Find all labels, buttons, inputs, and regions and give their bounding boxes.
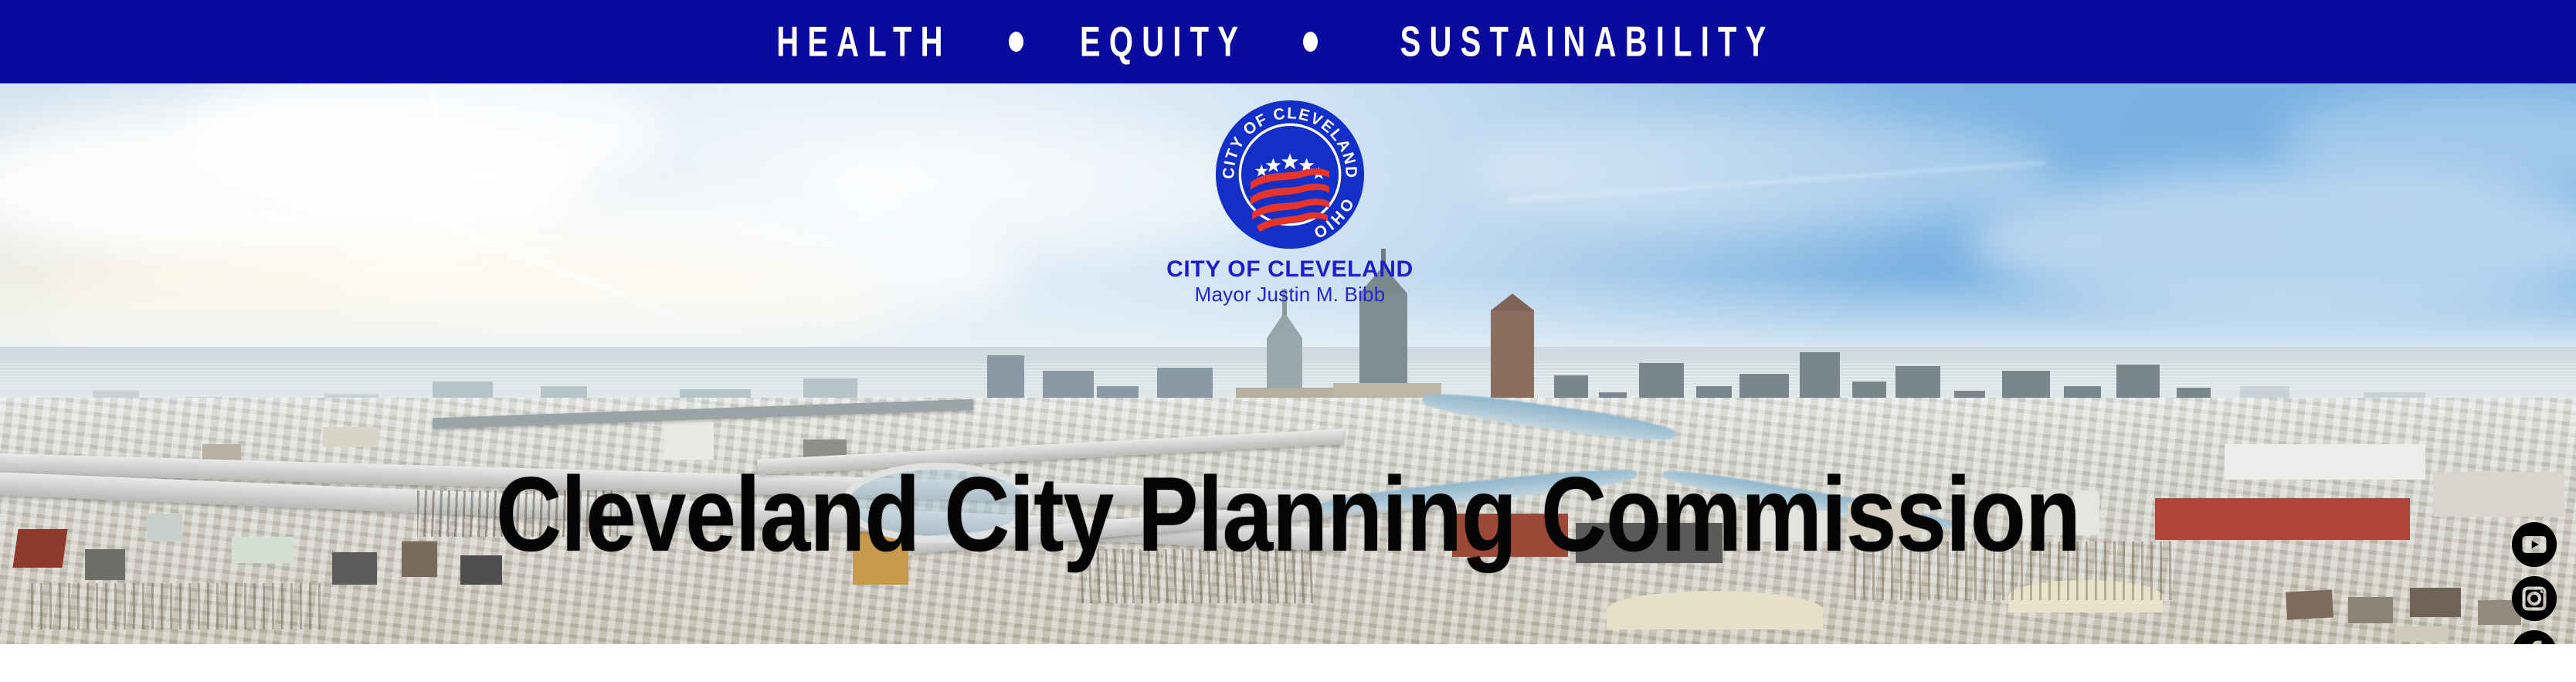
tagline-word-equity: EQUITY — [1080, 21, 1247, 63]
house-roof — [2410, 588, 2461, 617]
building-block — [402, 541, 437, 577]
building-block — [147, 514, 182, 541]
city-brand-lockup: CITY OF CLEVELAND OHIO — [1135, 99, 1444, 306]
city-seal: CITY OF CLEVELAND OHIO — [1214, 99, 1366, 250]
brand-mayor-label: Mayor Justin M. Bibb — [1135, 283, 1444, 306]
cuyahoga-river — [1313, 464, 1638, 518]
social-links — [2510, 521, 2559, 644]
tree-cluster — [1081, 549, 1313, 603]
tree-cluster — [1854, 541, 2178, 600]
tagline-banner-inner: HEALTH EQUITY SUSTAINABILITY — [755, 22, 1821, 61]
youtube-icon[interactable] — [2510, 521, 2558, 568]
building-block — [323, 427, 378, 447]
industrial-block — [2225, 444, 2425, 480]
tagline-separator-dot-2 — [1303, 32, 1318, 52]
industrial-block — [1743, 511, 1828, 541]
house-roof — [2286, 589, 2333, 619]
building-block — [332, 552, 377, 585]
building-block — [232, 537, 294, 563]
cloud-shape — [1468, 114, 2055, 230]
brand-city-label: CITY OF CLEVELAND — [1135, 257, 1444, 282]
industrial-block — [1452, 514, 1568, 557]
building-block — [85, 549, 125, 580]
house-roof — [2348, 597, 2393, 623]
tagline-word-health: HEALTH — [776, 21, 951, 63]
highway-loop — [842, 463, 1033, 543]
tree-cluster — [417, 490, 618, 537]
industrial-silo — [2041, 489, 2067, 535]
industrial-block — [2155, 498, 2410, 540]
tagline-banner: HEALTH EQUITY SUSTAINABILITY — [0, 0, 2576, 83]
lake-shimmer — [0, 364, 2576, 392]
city-seal-svg: CITY OF CLEVELAND OHIO — [1214, 99, 1366, 250]
page-root: HEALTH EQUITY SUSTAINABILITY — [0, 0, 2576, 682]
instagram-icon[interactable] — [2510, 575, 2558, 623]
house-roof — [2394, 626, 2449, 642]
industrial-block — [2433, 472, 2564, 517]
industrial-block — [1848, 503, 1922, 537]
tree-cluster — [31, 583, 324, 629]
tagline-word-sustainability: SUSTAINABILITY — [1400, 21, 1775, 63]
industrial-silo — [2073, 490, 2099, 535]
footer-white-strip — [0, 644, 2576, 682]
building-block — [664, 418, 714, 460]
building-block — [460, 555, 502, 585]
urban-blocks — [0, 398, 2576, 644]
industrial-silo — [2008, 487, 2035, 535]
tagline-separator-dot-1 — [1009, 32, 1023, 52]
hero-photo-region: CITY OF CLEVELAND OHIO — [0, 83, 2576, 644]
industrial-block — [1576, 523, 1722, 563]
facebook-icon[interactable] — [2510, 629, 2558, 644]
building-block — [12, 529, 67, 568]
ground-layer — [0, 398, 2576, 644]
quarry-mound — [1607, 591, 1823, 629]
